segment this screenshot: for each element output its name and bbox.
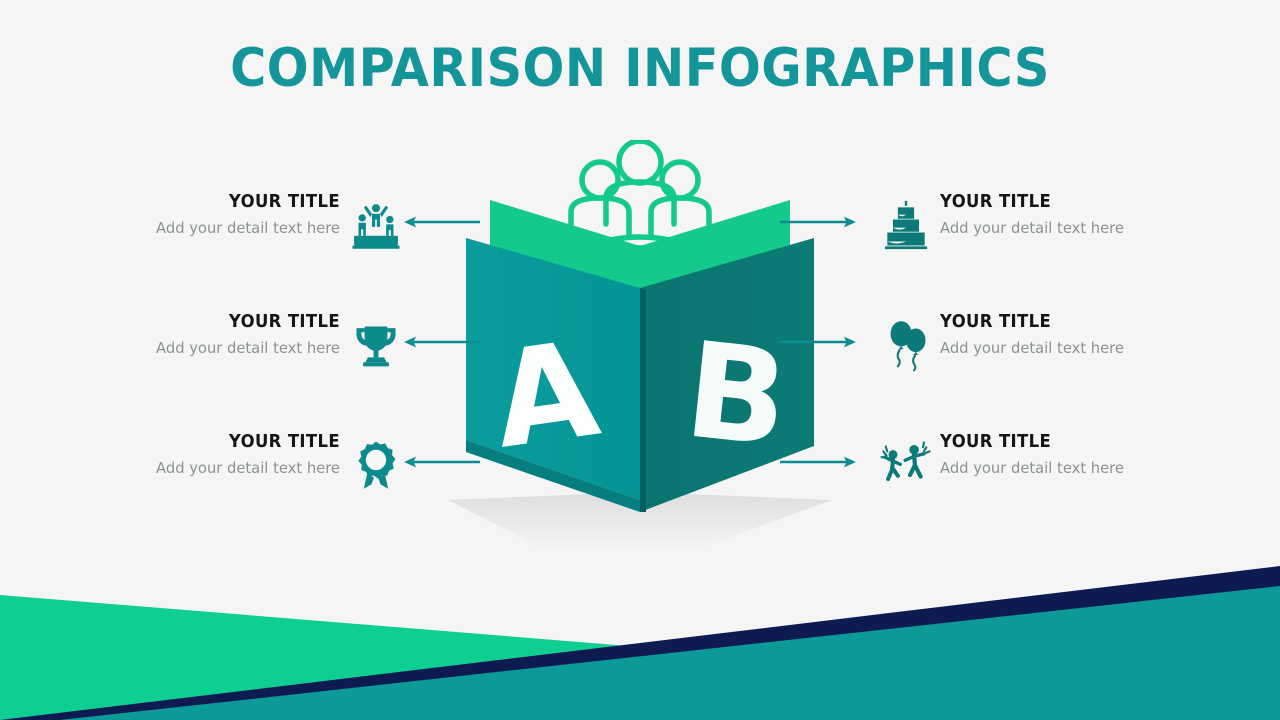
right-item-text-3: YOUR TITLE Add your detail text here <box>940 432 1180 479</box>
book-label-a: A <box>484 312 607 479</box>
list-item[interactable]: YOUR TITLE Add your detail text here <box>830 432 1160 528</box>
list-item[interactable]: YOUR TITLE Add your detail text here <box>830 192 1160 288</box>
left-item-text-2: YOUR TITLE Add your detail text here <box>110 312 340 359</box>
bottom-decoration <box>0 560 1280 720</box>
item-title: YOUR TITLE <box>940 312 1166 332</box>
arrow-right-icon <box>778 334 858 350</box>
list-item[interactable]: YOUR TITLE Add your detail text here <box>120 192 450 288</box>
list-item[interactable]: YOUR TITLE Add your detail text here <box>120 432 450 528</box>
left-item-text-3: YOUR TITLE Add your detail text here <box>110 432 340 479</box>
item-title: YOUR TITLE <box>940 432 1166 452</box>
dancing-people-icon <box>880 440 932 492</box>
left-item-text-1: YOUR TITLE Add your detail text here <box>110 192 340 239</box>
comparison-book-graphic: A B <box>440 140 840 560</box>
item-title: YOUR TITLE <box>124 432 340 452</box>
item-title: YOUR TITLE <box>940 192 1166 212</box>
item-description: Add your detail text here <box>122 339 341 359</box>
arrow-right-icon <box>778 454 858 470</box>
page-title: COMPARISON INFOGRAPHICS <box>45 38 1235 99</box>
right-item-text-1: YOUR TITLE Add your detail text here <box>940 192 1180 239</box>
balloons-icon <box>880 320 932 372</box>
item-title: YOUR TITLE <box>124 192 340 212</box>
trophy-icon <box>350 320 402 372</box>
arrow-right-icon <box>778 214 858 230</box>
right-item-text-2: YOUR TITLE Add your detail text here <box>940 312 1180 359</box>
list-item[interactable]: YOUR TITLE Add your detail text here <box>120 312 450 408</box>
arrow-left-icon <box>402 454 482 470</box>
podium-winners-icon <box>350 200 402 252</box>
arrow-left-icon <box>402 214 482 230</box>
tiered-cake-icon <box>880 200 932 252</box>
item-description: Add your detail text here <box>122 219 341 239</box>
list-item[interactable]: YOUR TITLE Add your detail text here <box>830 312 1160 408</box>
item-title: YOUR TITLE <box>124 312 340 332</box>
item-description: Add your detail text here <box>940 219 1168 239</box>
item-description: Add your detail text here <box>940 459 1168 479</box>
item-description: Add your detail text here <box>122 459 341 479</box>
arrow-left-icon <box>402 334 482 350</box>
award-rosette-icon <box>350 440 402 492</box>
item-description: Add your detail text here <box>940 339 1168 359</box>
